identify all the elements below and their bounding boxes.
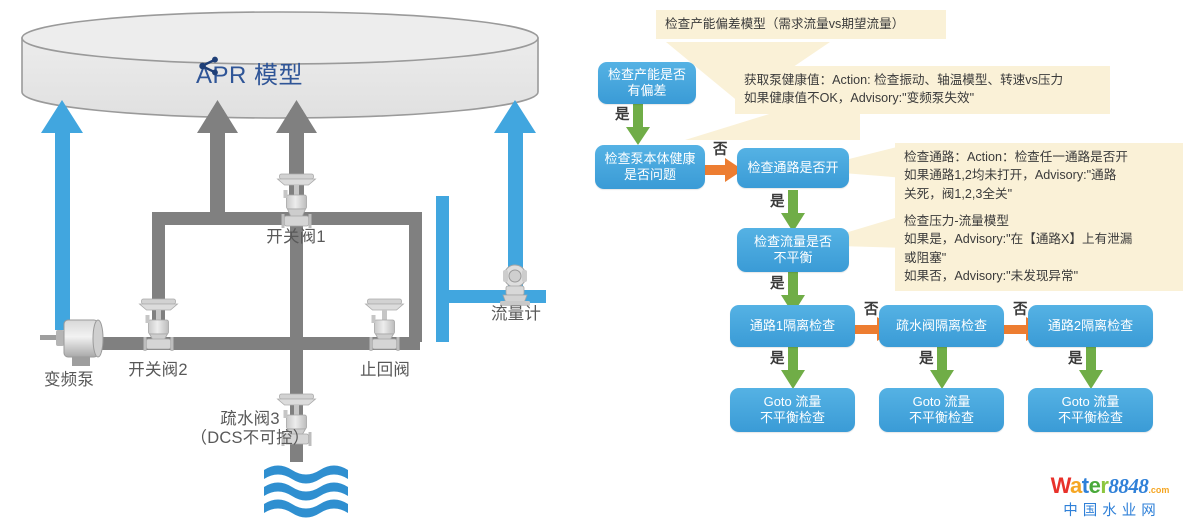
flow-node-trap-isolation-check[interactable]: 疏水阀隔离检查 [879,305,1004,347]
check-valve-icon [366,299,404,351]
edge-label-no-n6-n7: 否 [1013,303,1028,318]
watermark-letter-a: a [1070,473,1082,498]
apr-model-title: APR 模型 [196,55,303,90]
control-valve-1-icon [278,174,316,228]
edge-label-no-n2-n3: 否 [713,143,728,158]
flow-node-check-capacity-deviation[interactable]: 检查产能是否 有偏差 [598,62,696,104]
flow-node-check-path-open[interactable]: 检查通路是否开 [737,148,849,188]
watermark-domain: .com [1148,485,1169,495]
label-flow-meter: 流量计 [479,305,553,324]
watermark-letter-e: e [1089,473,1101,498]
label-valve2: 开关阀2 [108,361,208,380]
site-watermark: Water8848.com 中国水业网 [1040,475,1180,521]
edge-label-yes-n3-n4: 是 [770,195,785,210]
watermark-brand: Water8848.com [1040,475,1180,501]
edge-label-yes-n5-n8: 是 [770,352,785,367]
flow-node-check-pump-health[interactable]: 检查泵本体健康 是否问题 [595,145,705,189]
label-pump: 变频泵 [29,371,109,390]
variable-frequency-pump-icon [40,320,103,366]
edge-label-yes-n1-n2: 是 [615,108,630,123]
flow-node-path2-isolation-check[interactable]: 通路2隔离检查 [1028,305,1153,347]
label-check-valve: 止回阀 [335,361,435,380]
share-network-icon [196,55,222,77]
callout-path-check: 检查通路：Action：检查任一通路是否开 如果通路1,2均未打开，Adviso… [895,143,1183,209]
edge-label-no-n5-n6: 否 [864,303,879,318]
edge-label-yes-n6-n9: 是 [919,352,934,367]
watermark-subtitle: 中国水业网 [1040,502,1180,521]
flow-node-path1-isolation-check[interactable]: 通路1隔离检查 [730,305,855,347]
diagnostic-flowchart-panel: 检查产能偏差模型（需求流量vs期望流量） 获取泵健康值：Action: 检查振动… [590,0,1183,525]
flow-node-goto-flow-imbalance-1[interactable]: Goto 流量 不平衡检查 [730,388,855,432]
flow-node-check-flow-imbalance[interactable]: 检查流量是否 不平衡 [737,228,849,272]
watermark-letter-t: t [1082,473,1089,498]
edge-label-yes-n4-n5: 是 [770,277,785,292]
diagram-canvas: APR 模型 开关阀1 开关阀2 止回阀 变频泵 疏水阀3 （DCS不可控） 流… [0,0,1183,525]
callout-pressure-flow-model: 检查压力-流量模型 如果是，Advisory:"在【通路X】上有泄漏 或阻塞" … [895,207,1183,291]
pid-schematic-panel: APR 模型 开关阀1 开关阀2 止回阀 变频泵 疏水阀3 （DCS不可控） 流… [0,0,600,525]
edge-label-yes-n7-n10: 是 [1068,352,1083,367]
control-valve-2-icon [140,299,178,351]
watermark-number: 8848 [1108,474,1148,498]
water-waves-icon [264,466,348,518]
label-trap3: 疏水阀3 （DCS不可控） [190,410,310,448]
watermark-letter-w: W [1051,473,1070,498]
label-valve1: 开关阀1 [246,228,346,247]
callout-pump-health: 获取泵健康值：Action: 检查振动、轴温模型、转速vs压力 如果健康值不OK… [735,66,1110,114]
flow-node-goto-flow-imbalance-3[interactable]: Goto 流量 不平衡检查 [1028,388,1153,432]
flow-meter-icon [500,265,530,306]
flow-node-goto-flow-imbalance-2[interactable]: Goto 流量 不平衡检查 [879,388,1004,432]
callout-capacity-deviation-model: 检查产能偏差模型（需求流量vs期望流量） [656,10,946,39]
